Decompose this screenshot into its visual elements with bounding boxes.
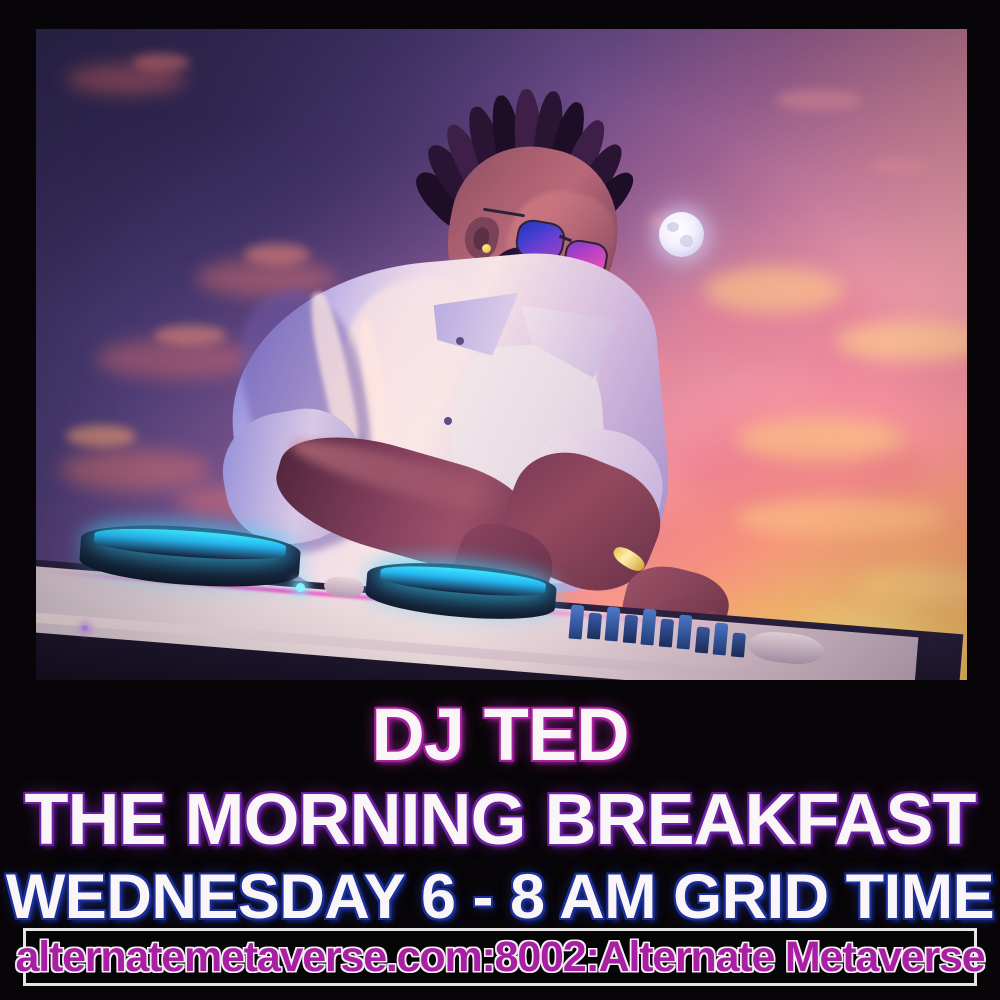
deck-led-indicator [82, 625, 88, 631]
deck-fader [731, 632, 746, 657]
cloud [196, 259, 336, 297]
poster-caption-block: DJ TED THE MORNING BREAKFAST WEDNESDAY 6… [0, 682, 1000, 1000]
poster-show-name: THE MORNING BREAKFAST [0, 784, 1000, 856]
deck-fader [713, 622, 729, 655]
grid-address-text: alternatemetaverse.com:8002:Alternate Me… [16, 933, 985, 982]
cloud [66, 425, 136, 447]
shirt-button [444, 417, 452, 425]
poster-title-dj-name: DJ TED [0, 698, 1000, 772]
dj-artwork-image [36, 29, 967, 680]
cloud [132, 53, 190, 71]
shirt-button [456, 337, 464, 345]
moon-icon [659, 212, 704, 257]
cloud [60, 449, 210, 491]
cloud [154, 325, 226, 345]
cloud [244, 243, 310, 265]
deck-fader [587, 612, 602, 639]
cloud [776, 89, 862, 111]
cloud [96, 339, 256, 379]
deck-fader [695, 626, 710, 653]
grid-address-bar[interactable]: alternatemetaverse.com:8002:Alternate Me… [23, 928, 977, 986]
dj-event-poster: DJ TED THE MORNING BREAKFAST WEDNESDAY 6… [0, 0, 1000, 1000]
deck-fader [623, 614, 638, 643]
cloud [704, 267, 844, 313]
deck-fader [659, 618, 674, 647]
deck-led-indicator [296, 583, 305, 592]
earring-icon [482, 244, 491, 253]
poster-schedule-line: WEDNESDAY 6 - 8 AM GRID TIME [0, 866, 1000, 929]
cloud [872, 157, 932, 173]
